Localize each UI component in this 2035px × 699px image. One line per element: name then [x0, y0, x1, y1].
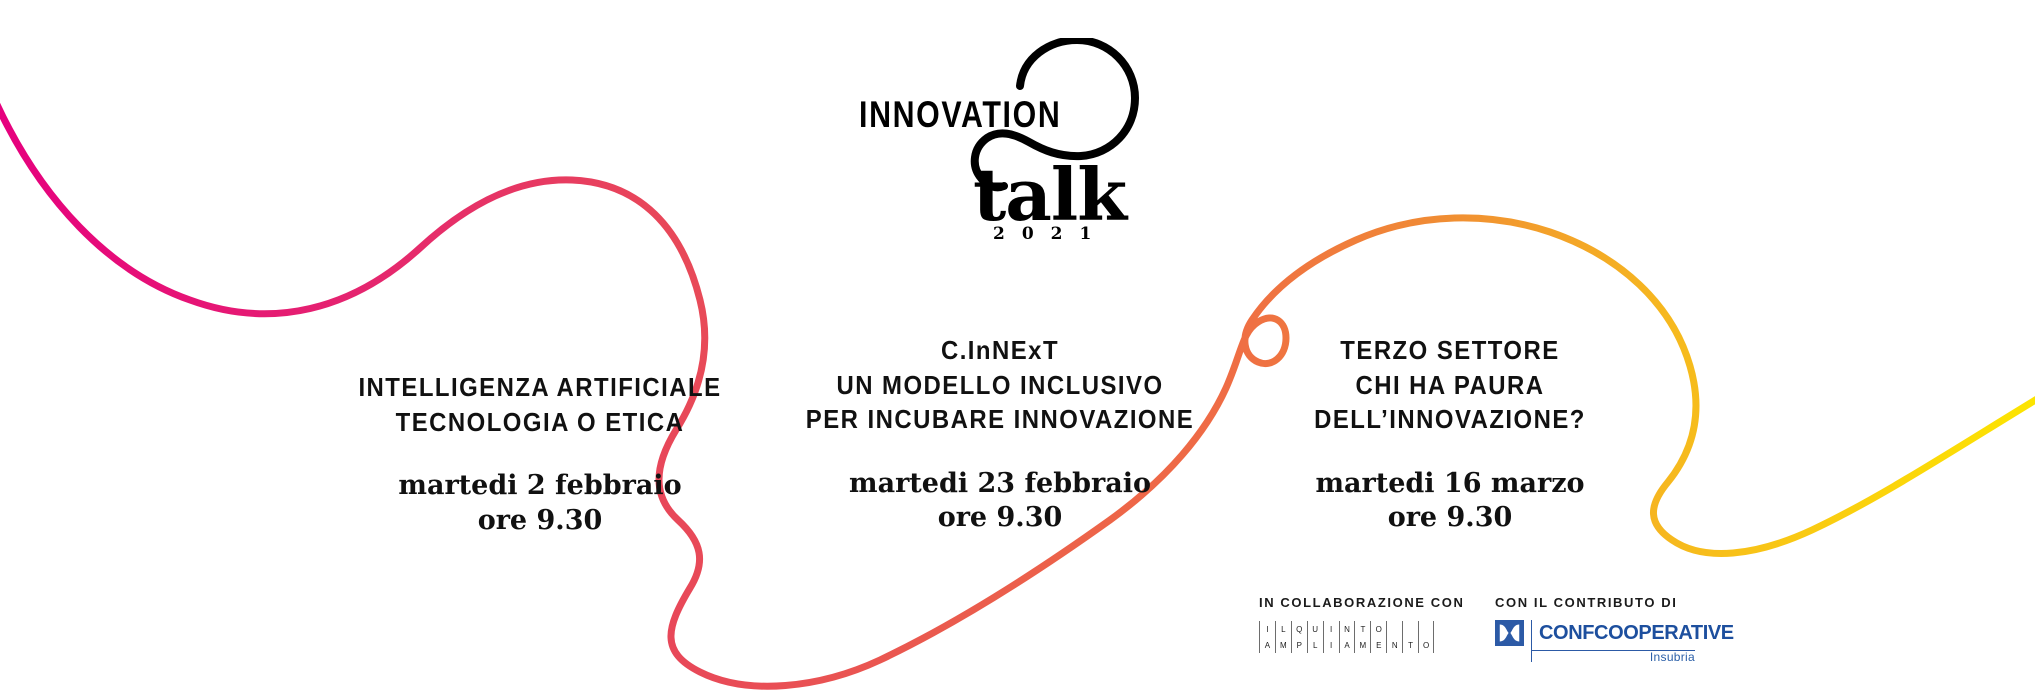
iqa-cell: O: [1418, 637, 1434, 653]
confcooperative-divider: [1531, 620, 1532, 662]
confcooperative-wordmark: CONFCOOPERATIVE: [1539, 622, 1734, 645]
iqa-cell: I: [1323, 637, 1339, 653]
iqa-cell: N: [1339, 621, 1355, 637]
confcooperative-subbrand: Insubria: [1650, 650, 1695, 664]
credit-collaboration-heading: IN COLLABORAZIONE CON: [1259, 595, 1464, 610]
iqa-cell: T: [1354, 621, 1370, 637]
credit-collaboration: IN COLLABORAZIONE CON I L Q U I N T O A …: [1259, 595, 1464, 653]
iqa-cell: N: [1386, 637, 1402, 653]
iqa-logo-row-top: I L Q U I N T O: [1259, 621, 1434, 637]
session-title: INTELLIGENZA ARTIFICIALE TECNOLOGIA O ET…: [328, 370, 751, 439]
logo-word-innovation: INNOVATION: [859, 94, 1061, 136]
iqa-cell: I: [1323, 621, 1339, 637]
logo-word-talk: talk: [973, 159, 1126, 231]
session-block-1: INTELLIGENZA ARTIFICIALE TECNOLOGIA O ET…: [310, 370, 770, 538]
confcooperative-logo[interactable]: CONFCOOPERATIVE Insubria: [1495, 620, 1695, 664]
iqa-cell: L: [1275, 621, 1291, 637]
confcooperative-mark-icon: [1495, 620, 1524, 646]
il-quinto-ampliamento-logo[interactable]: I L Q U I N T O A M P L I A M E: [1259, 621, 1434, 653]
session-date: martedi 2 febbraio ore 9.30: [310, 469, 770, 538]
iqa-cell: P: [1291, 637, 1307, 653]
iqa-cell: [1402, 621, 1418, 637]
iqa-cell: L: [1307, 637, 1323, 653]
iqa-cell: T: [1402, 637, 1418, 653]
session-block-3: TERZO SETTORE CHI HA PAURA DELL’INNOVAZI…: [1250, 333, 1650, 536]
session-date: martedi 16 marzo ore 9.30: [1250, 467, 1650, 536]
innovation-talk-logo: INNOVATION talk 2021: [845, 38, 1205, 263]
iqa-cell: M: [1354, 637, 1370, 653]
iqa-logo-row-bottom: A M P L I A M E N T O: [1259, 637, 1434, 653]
session-date: martedi 23 febbraio ore 9.30: [770, 467, 1230, 536]
iqa-cell: I: [1259, 621, 1275, 637]
iqa-cell: A: [1259, 637, 1275, 653]
iqa-cell: Q: [1291, 621, 1307, 637]
session-block-2: C.InNExT UN MODELLO INCLUSIVO PER INCUBA…: [770, 333, 1230, 536]
credit-contribution: CON IL CONTRIBUTO DI CONFCOOPERATIVE Ins…: [1495, 595, 1695, 664]
iqa-cell: U: [1307, 621, 1323, 637]
session-title: C.InNExT UN MODELLO INCLUSIVO PER INCUBA…: [788, 333, 1211, 437]
credit-contribution-heading: CON IL CONTRIBUTO DI: [1495, 595, 1695, 610]
session-title: TERZO SETTORE CHI HA PAURA DELL’INNOVAZI…: [1266, 333, 1634, 437]
logo-year: 2021: [993, 224, 1108, 244]
iqa-cell: [1386, 621, 1402, 637]
iqa-cell: O: [1370, 621, 1386, 637]
poster-canvas: INNOVATION talk 2021 INTELLIGENZA ARTIFI…: [0, 0, 2035, 699]
iqa-cell: M: [1275, 637, 1291, 653]
iqa-cell: A: [1339, 637, 1355, 653]
iqa-cell: [1418, 621, 1434, 637]
iqa-cell: E: [1370, 637, 1386, 653]
